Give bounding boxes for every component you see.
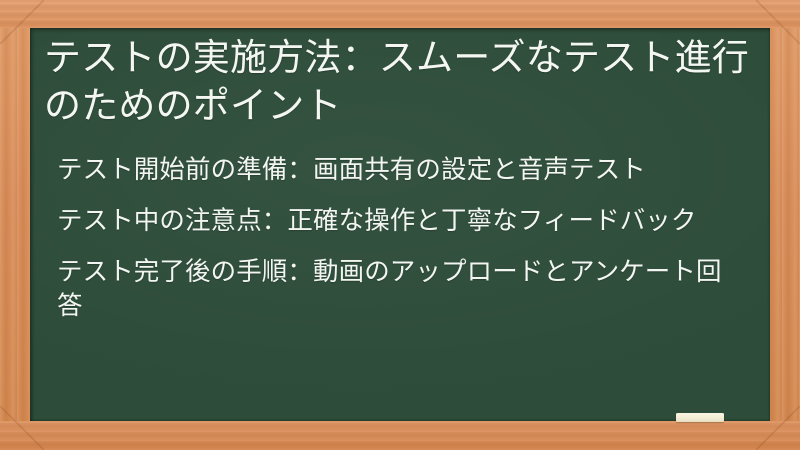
- list-item: テスト中の注意点：正確な操作と丁寧なフィードバック: [57, 205, 747, 239]
- frame-rail-top: [0, 0, 800, 28]
- board-content: テストの実施方法：スムーズなテスト進行のためのポイント テスト開始前の準備：画面…: [30, 28, 770, 421]
- chalkboard-surface: テストの実施方法：スムーズなテスト進行のためのポイント テスト開始前の準備：画面…: [30, 28, 770, 421]
- chalk-stick-icon: [676, 413, 724, 422]
- points-list: テスト開始前の準備：画面共有の設定と音声テスト テスト中の注意点：正確な操作と丁…: [57, 154, 747, 324]
- page-title: テストの実施方法：スムーズなテスト進行のためのポイント: [44, 34, 756, 130]
- frame-ledge-bottom: [0, 421, 800, 450]
- chalkboard-slide: テストの実施方法：スムーズなテスト進行のためのポイント テスト開始前の準備：画面…: [0, 0, 800, 450]
- list-item: テスト開始前の準備：画面共有の設定と音声テスト: [57, 154, 747, 188]
- list-item: テスト完了後の手順：動画のアップロードとアンケート回答: [57, 256, 747, 324]
